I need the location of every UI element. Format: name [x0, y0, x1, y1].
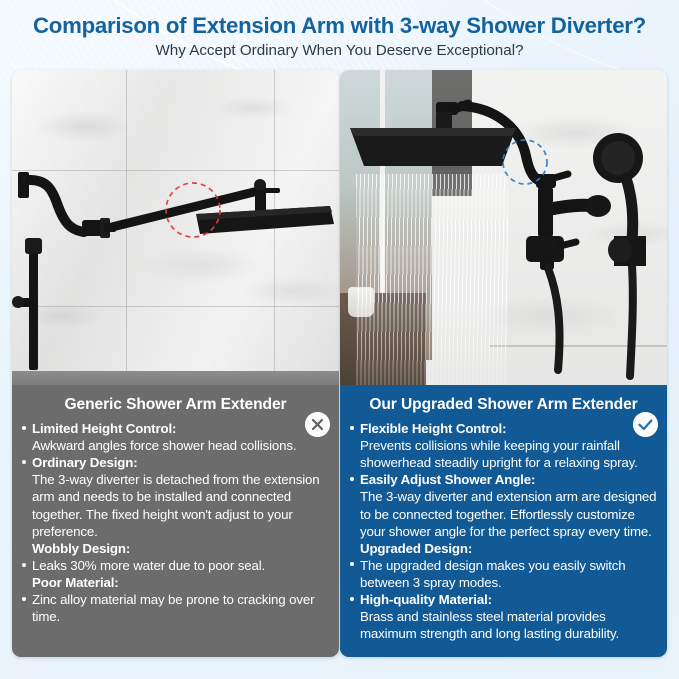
- generic-panel-title: Generic Shower Arm Extender: [12, 385, 339, 413]
- feature-body: Leaks 30% more water due to poor seal.: [32, 557, 331, 574]
- feature-heading: High-quality Material:: [360, 591, 659, 608]
- list-item: Poor Material: Zinc alloy material may b…: [22, 574, 331, 625]
- feature-body: Prevents collisions while keeping your r…: [360, 437, 659, 471]
- feature-heading: Poor Material:: [32, 574, 331, 591]
- check-icon: [633, 412, 658, 437]
- comparison-columns: Generic Shower Arm Extender Limited Heig…: [0, 70, 679, 670]
- upgraded-shower-arm-photo: [340, 70, 667, 385]
- feature-heading: Easily Adjust Shower Angle:: [360, 471, 659, 488]
- list-item: Flexible Height Control: Prevents collis…: [350, 420, 659, 471]
- upgraded-panel-title: Our Upgraded Shower Arm Extender: [340, 385, 667, 413]
- bullet-dot: [350, 597, 354, 601]
- page-subtitle: Why Accept Ordinary When You Deserve Exc…: [0, 37, 679, 59]
- bullet-dot: [350, 426, 354, 430]
- feature-body: Brass and stainless steel material provi…: [360, 608, 659, 642]
- bullet-dot: [22, 597, 26, 601]
- comparison-column-upgraded: Our Upgraded Shower Arm Extender Flexibl…: [340, 70, 667, 657]
- feature-body: Zinc alloy material may be prone to crac…: [32, 591, 331, 625]
- list-item: Easily Adjust Shower Angle: The 3-way di…: [350, 471, 659, 539]
- list-item: High-quality Material: Brass and stainle…: [350, 591, 659, 642]
- generic-features-panel: Generic Shower Arm Extender Limited Heig…: [12, 385, 339, 657]
- generic-shower-arm-illustration: [12, 70, 339, 385]
- water-spray: [356, 174, 508, 385]
- list-item: Limited Height Control: Awkward angles f…: [22, 420, 331, 454]
- generic-shower-arm-photo: [12, 70, 339, 385]
- bullet-dot: [350, 477, 354, 481]
- bullet-dot: [22, 563, 26, 567]
- comparison-infographic: Comparison of Extension Arm with 3-way S…: [0, 0, 679, 679]
- feature-body: The 3-way diverter is detached from the …: [32, 471, 331, 539]
- upgraded-feature-list: Flexible Height Control: Prevents collis…: [340, 413, 667, 642]
- x-icon: [305, 412, 330, 437]
- upgraded-features-panel: Our Upgraded Shower Arm Extender Flexibl…: [340, 385, 667, 657]
- list-item: Upgraded Design: The upgraded design mak…: [350, 540, 659, 591]
- feature-body: The upgraded design makes you easily swi…: [360, 557, 659, 591]
- feature-heading: Ordinary Design:: [32, 454, 331, 471]
- floor-strip: [12, 371, 339, 385]
- comparison-column-generic: Generic Shower Arm Extender Limited Heig…: [12, 70, 339, 657]
- bullet-dot: [22, 460, 26, 464]
- list-item: Ordinary Design: The 3-way diverter is d…: [22, 454, 331, 539]
- feature-heading: Flexible Height Control:: [360, 420, 659, 437]
- feature-body: The 3-way diverter and extension arm are…: [360, 488, 659, 539]
- page-header: Comparison of Extension Arm with 3-way S…: [0, 0, 679, 66]
- feature-heading: Limited Height Control:: [32, 420, 331, 437]
- bullet-dot: [350, 562, 354, 566]
- generic-feature-list: Limited Height Control: Awkward angles f…: [12, 413, 339, 625]
- feature-heading: Upgraded Design:: [360, 540, 659, 557]
- bullet-dot: [22, 426, 26, 430]
- list-item: Wobbly Design: Leaks 30% more water due …: [22, 540, 331, 574]
- feature-body: Awkward angles force shower head collisi…: [32, 437, 331, 454]
- feature-heading: Wobbly Design:: [32, 540, 331, 557]
- page-title: Comparison of Extension Arm with 3-way S…: [0, 0, 679, 37]
